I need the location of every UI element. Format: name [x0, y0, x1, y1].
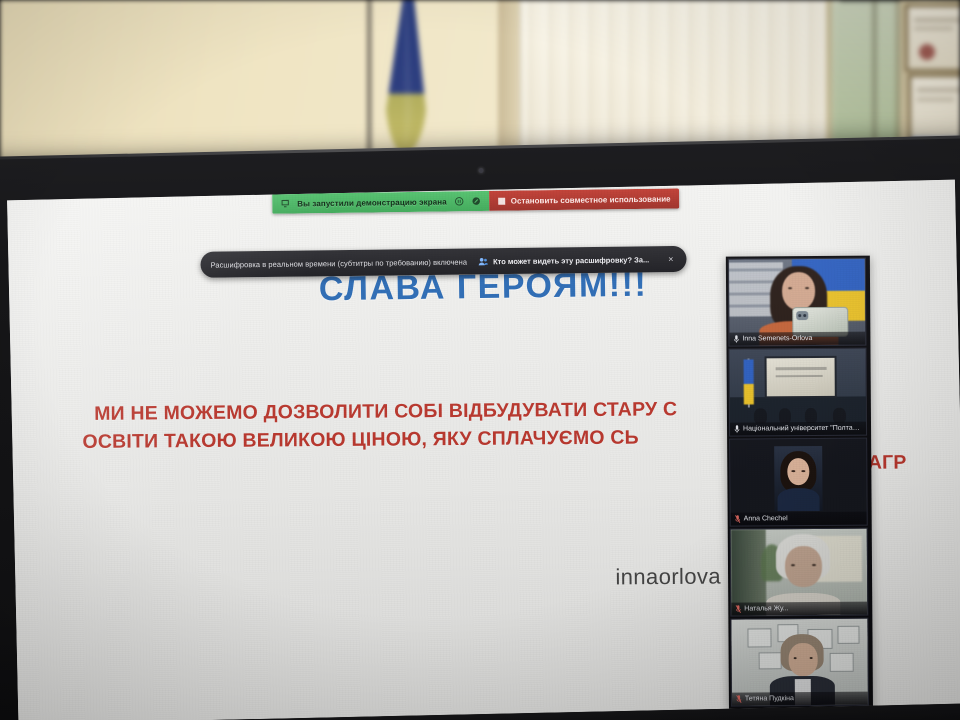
screenshot-stage: СЛАВА ГЕРОЯМ!!! МИ НЕ МОЖЕМО ДОЗВОЛИТИ С…: [0, 0, 960, 720]
person-head: [805, 407, 817, 423]
participant-tile[interactable]: Національний університет "Полтавс...: [728, 348, 867, 437]
participant-name-badge: Національний університет "Полтавс...: [730, 422, 866, 436]
participant-name: Anna Chechel: [744, 515, 788, 522]
laptop-screen: СЛАВА ГЕРОЯМ!!! МИ НЕ МОЖЕМО ДОЗВОЛИТИ С…: [7, 180, 960, 720]
person-torso: [778, 488, 819, 512]
participant-tile[interactable]: Inna Semenets-Orlova: [728, 258, 867, 347]
stop-sharing-label: Остановить совместное использование: [511, 194, 671, 205]
person-face: [789, 643, 818, 676]
participant-tile[interactable]: Anna Chechel: [729, 438, 868, 527]
stop-square-icon: [498, 197, 505, 204]
person-face: [785, 546, 822, 588]
person-face: [782, 272, 815, 310]
mic-muted-icon: [735, 515, 741, 524]
transcription-info-link[interactable]: Кто может видеть эту расшифровку? За...: [477, 254, 649, 267]
person-face: [787, 458, 810, 486]
webcam-icon: [478, 168, 483, 173]
participant-name-badge: Inna Semenets-Orlova: [729, 332, 865, 346]
person-head: [754, 408, 766, 424]
participant-filmstrip: Inna Semenets-Orlova: [726, 256, 873, 709]
person-head: [779, 408, 791, 424]
mic-muted-icon: [735, 605, 741, 614]
framed-certificate: [905, 4, 960, 72]
participant-name-badge: Anna Chechel: [731, 512, 867, 526]
mic-muted-icon: [736, 695, 742, 704]
pause-circle-icon[interactable]: [454, 196, 464, 206]
participant-tile[interactable]: Наталья Жу...: [730, 528, 869, 617]
share-screen-icon: [280, 199, 290, 209]
ukrainian-flag-icon: [352, 0, 462, 160]
avatar: [774, 446, 823, 512]
slide-footer-text: innaorlova: [615, 564, 721, 591]
stop-sharing-button[interactable]: Остановить совместное использование: [489, 188, 680, 210]
projection-screen: [765, 356, 837, 398]
participant-tile[interactable]: Тетяна Пудкіна: [730, 618, 869, 707]
close-icon[interactable]: ×: [665, 252, 676, 265]
transcription-message: Расшифровка в реальном времени (субтитры…: [210, 257, 467, 269]
sharing-status-label: Вы запустили демонстрацию экрана: [297, 197, 447, 208]
participant-name: Наталья Жу...: [744, 605, 788, 612]
ukrainian-flag-icon: [743, 360, 754, 405]
sharing-status-banner: Вы запустили демонстрацию экрана: [272, 191, 489, 214]
participant-name: Тетяна Пудкіна: [745, 695, 794, 702]
participant-name-badge: Тетяна Пудкіна: [732, 692, 868, 706]
annotate-icon[interactable]: [471, 196, 481, 206]
laptop: СЛАВА ГЕРОЯМ!!! МИ НЕ МОЖЕМО ДОЗВОЛИТИ С…: [0, 135, 960, 720]
mic-icon: [733, 335, 739, 344]
transcription-info-label: Кто может видеть эту расшифровку? За...: [493, 255, 649, 266]
mic-icon: [734, 425, 740, 434]
participant-name: Національний університет "Полтавс...: [743, 425, 862, 433]
people-icon: [477, 256, 488, 267]
person-head: [833, 407, 845, 423]
participant-name: Inna Semenets-Orlova: [742, 335, 812, 342]
participant-name-badge: Наталья Жу...: [731, 602, 867, 616]
